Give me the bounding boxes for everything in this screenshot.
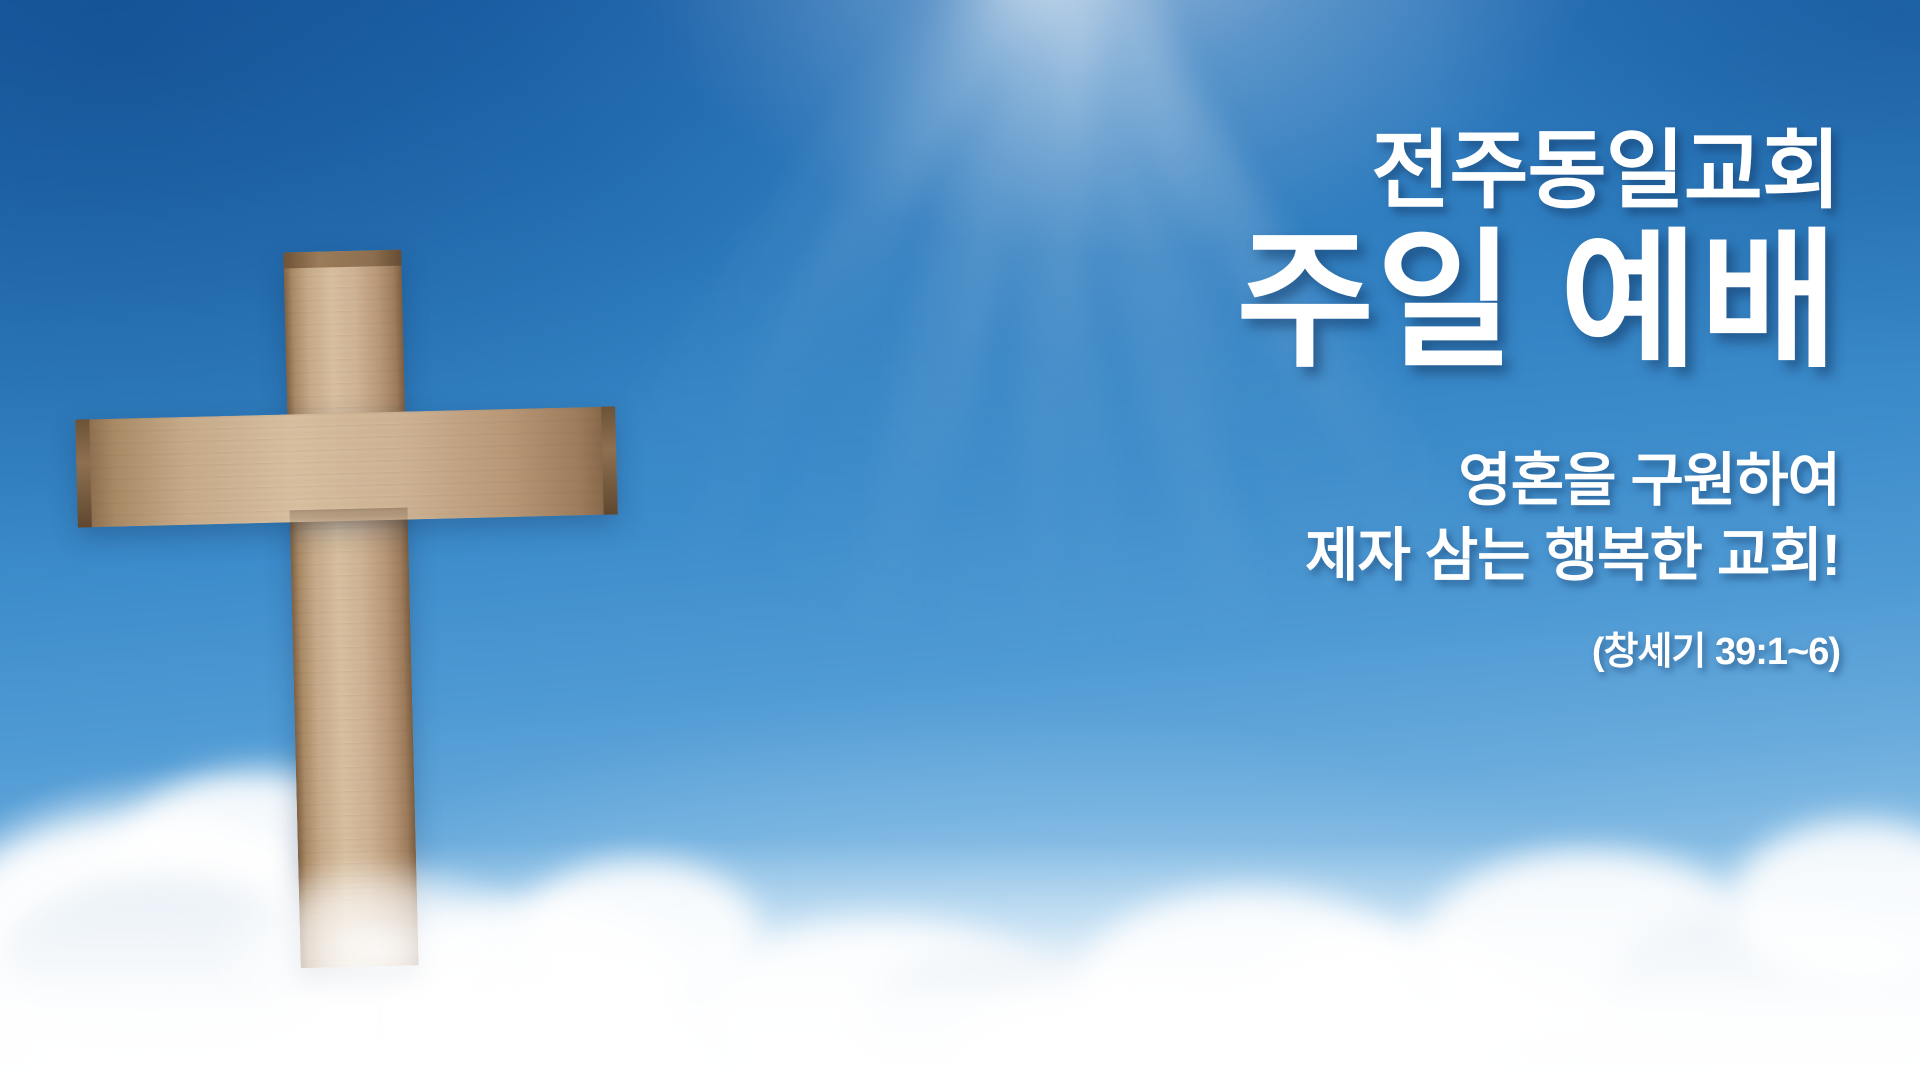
slide-text-block: 전주동일교회 주일 예배 영혼을 구원하여 제자 삼는 행복한 교회! (창세기… — [1020, 128, 1840, 675]
slogan-line-2: 제자 삼는 행복한 교회! — [1020, 518, 1840, 593]
cross-right-end-grain — [601, 406, 618, 514]
cross-left-end-grain — [75, 419, 92, 527]
cross-joint-shadow — [290, 508, 409, 533]
service-title: 주일 예배 — [1020, 222, 1840, 381]
scripture-reference: (창세기 39:1~6) — [1020, 620, 1840, 675]
cross-base-fog — [216, 857, 540, 1045]
slogan-line-1: 영혼을 구원하여 — [1020, 443, 1840, 518]
church-name: 전주동일교회 — [1020, 128, 1840, 214]
cross-top-end-grain — [283, 250, 401, 269]
worship-slide: 전주동일교회 주일 예배 영혼을 구원하여 제자 삼는 행복한 교회! (창세기… — [0, 0, 1920, 1080]
church-slogan: 영혼을 구원하여 제자 삼는 행복한 교회! — [1020, 443, 1840, 594]
wooden-cross — [61, 242, 718, 977]
